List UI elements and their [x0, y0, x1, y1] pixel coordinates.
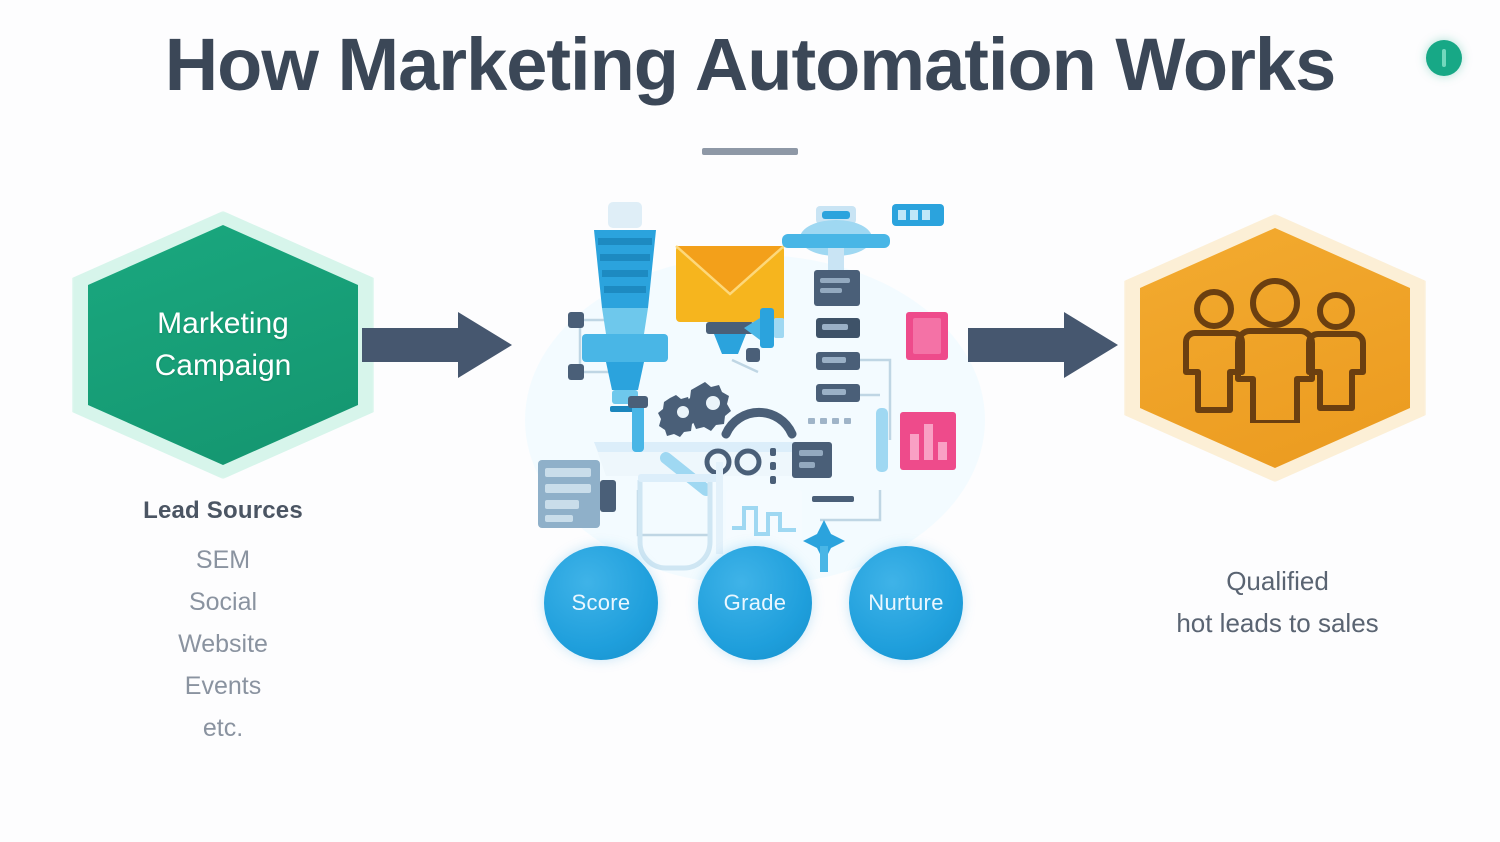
three-people-svg	[1170, 273, 1380, 423]
node-icon	[568, 312, 584, 328]
marketing-automation-engine-illustration	[520, 190, 990, 580]
process-circle-score[interactable]: Score	[544, 546, 658, 660]
cargo-block-icon	[792, 442, 832, 478]
page-title: How Marketing Automation Works	[0, 22, 1500, 107]
lead-sources-heading: Lead Sources	[68, 497, 378, 525]
node-icon	[568, 364, 584, 380]
process-circle-label: Grade	[724, 590, 787, 616]
status-dot-badge[interactable]	[1426, 40, 1462, 76]
lead-source-item: Website	[68, 623, 378, 665]
engine-svg	[520, 190, 990, 580]
lead-sources-caption: Lead Sources SEM Social Website Events e…	[68, 497, 378, 749]
process-circle-label: Nurture	[868, 590, 943, 616]
arrow-campaign-to-engine	[362, 308, 512, 382]
qualified-leads-caption: Qualified hot leads to sales	[1115, 560, 1440, 644]
status-dot-tick	[1442, 49, 1446, 67]
waveform-panel	[726, 490, 802, 540]
lead-source-item: Social	[68, 581, 378, 623]
qualified-leads-hexagon[interactable]	[1140, 228, 1410, 468]
node-icon	[746, 348, 760, 362]
chip-icon	[892, 204, 944, 226]
slide-canvas: How Marketing Automation Works Marketing…	[0, 0, 1500, 842]
process-circle-grade[interactable]: Grade	[698, 546, 812, 660]
marketing-campaign-hexagon[interactable]: Marketing Campaign	[88, 225, 358, 465]
qualified-leads-line-2: hot leads to sales	[1115, 602, 1440, 644]
lead-source-item: etc.	[68, 707, 378, 749]
qualified-leads-line-1: Qualified	[1115, 560, 1440, 602]
tube-icon	[876, 408, 888, 472]
lead-source-item: Events	[68, 665, 378, 707]
support-beam	[716, 462, 723, 554]
people-group-icon	[1140, 228, 1410, 468]
title-divider	[702, 148, 798, 155]
lead-source-item: SEM	[68, 539, 378, 581]
process-circle-nurture[interactable]: Nurture	[849, 546, 963, 660]
right-arrow-icon	[362, 308, 512, 382]
sparkle-stem	[820, 546, 828, 572]
chart-tile-icon	[906, 312, 948, 360]
right-arrow-icon	[968, 308, 1118, 382]
process-circle-label: Score	[572, 590, 631, 616]
bar-chart-tile-icon	[900, 412, 956, 470]
arrow-engine-to-leads	[968, 308, 1118, 382]
